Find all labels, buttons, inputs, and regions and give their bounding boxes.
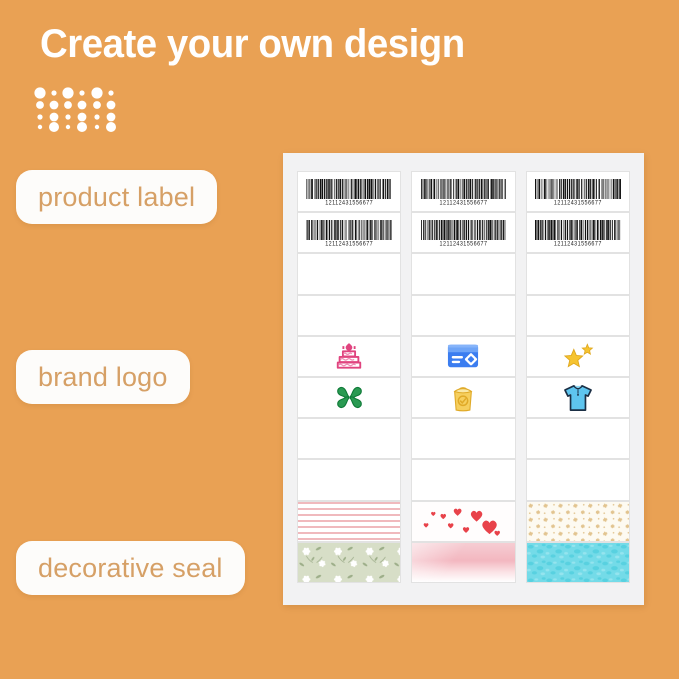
barcode-number: 12112431556677 <box>440 199 488 207</box>
birthday-cake-icon <box>330 340 368 372</box>
barcode: 12112431556677 <box>527 172 629 211</box>
label-cell-blank[interactable] <box>297 295 401 336</box>
label-cell-barcode[interactable]: 12112431556677 <box>526 171 630 212</box>
label-cell-blank[interactable] <box>526 459 630 500</box>
label-cell-icon[interactable] <box>411 336 515 377</box>
barcode: 12112431556677 <box>527 213 629 252</box>
pill-product-label[interactable]: product label <box>16 170 217 224</box>
label-cell-icon[interactable] <box>297 336 401 377</box>
four-leaf-clover-icon <box>330 382 368 414</box>
label-cell-blank[interactable] <box>526 418 630 459</box>
pill-label-text: product label <box>38 182 195 213</box>
page-title: Create your own design <box>40 22 465 67</box>
label-cell-icon[interactable] <box>526 336 630 377</box>
label-cell-pattern[interactable] <box>526 501 630 542</box>
label-cell-blank[interactable] <box>297 459 401 500</box>
label-cell-barcode[interactable]: 12112431556677 <box>297 171 401 212</box>
label-cell-blank[interactable] <box>411 295 515 336</box>
label-cell-blank[interactable] <box>411 459 515 500</box>
label-cell-blank[interactable] <box>411 418 515 459</box>
barcode-number: 12112431556677 <box>440 240 488 248</box>
label-cell-pattern[interactable] <box>297 542 401 583</box>
label-cell-pattern[interactable] <box>411 501 515 542</box>
label-sheet-grid: 1211243155667712112431556677121124315566… <box>297 171 630 583</box>
barcode-number: 12112431556677 <box>554 240 602 248</box>
barcode-number: 12112431556677 <box>325 199 373 207</box>
label-cell-barcode[interactable]: 12112431556677 <box>411 212 515 253</box>
label-cell-blank[interactable] <box>297 253 401 294</box>
barcode-number: 12112431556677 <box>554 199 602 207</box>
label-cell-blank[interactable] <box>526 295 630 336</box>
t-shirt-icon <box>559 382 597 414</box>
barcode: 12112431556677 <box>298 213 400 252</box>
label-cell-pattern[interactable] <box>411 542 515 583</box>
pink-gradient-pattern <box>412 543 514 582</box>
pill-label-text: decorative seal <box>38 553 223 584</box>
pill-label-text: brand logo <box>38 362 168 393</box>
barcode: 12112431556677 <box>412 172 514 211</box>
label-sheet: 1211243155667712112431556677121124315566… <box>283 153 644 605</box>
package-bag-icon <box>444 382 482 414</box>
pill-brand-logo[interactable]: brand logo <box>16 350 190 404</box>
dot-grid-decoration <box>33 86 125 132</box>
label-cell-icon[interactable] <box>411 377 515 418</box>
barcode: 12112431556677 <box>412 213 514 252</box>
label-cell-pattern[interactable] <box>297 501 401 542</box>
label-cell-pattern[interactable] <box>526 542 630 583</box>
cyan-texture-pattern <box>527 543 629 582</box>
label-cell-barcode[interactable]: 12112431556677 <box>297 212 401 253</box>
label-cell-icon[interactable] <box>297 377 401 418</box>
red-hearts-pattern <box>412 502 514 541</box>
pill-decorative-seal[interactable]: decorative seal <box>16 541 245 595</box>
label-cell-blank[interactable] <box>297 418 401 459</box>
pink-stripes-pattern <box>298 502 400 541</box>
label-cell-icon[interactable] <box>526 377 630 418</box>
stars-icon <box>559 340 597 372</box>
label-cell-barcode[interactable]: 12112431556677 <box>411 171 515 212</box>
credit-card-icon <box>444 340 482 372</box>
label-cell-barcode[interactable]: 12112431556677 <box>526 212 630 253</box>
barcode: 12112431556677 <box>298 172 400 211</box>
label-cell-blank[interactable] <box>411 253 515 294</box>
green-floral-pattern <box>298 543 400 582</box>
beige-floral-pattern <box>527 502 629 541</box>
label-cell-blank[interactable] <box>526 253 630 294</box>
barcode-number: 12112431556677 <box>325 240 373 248</box>
